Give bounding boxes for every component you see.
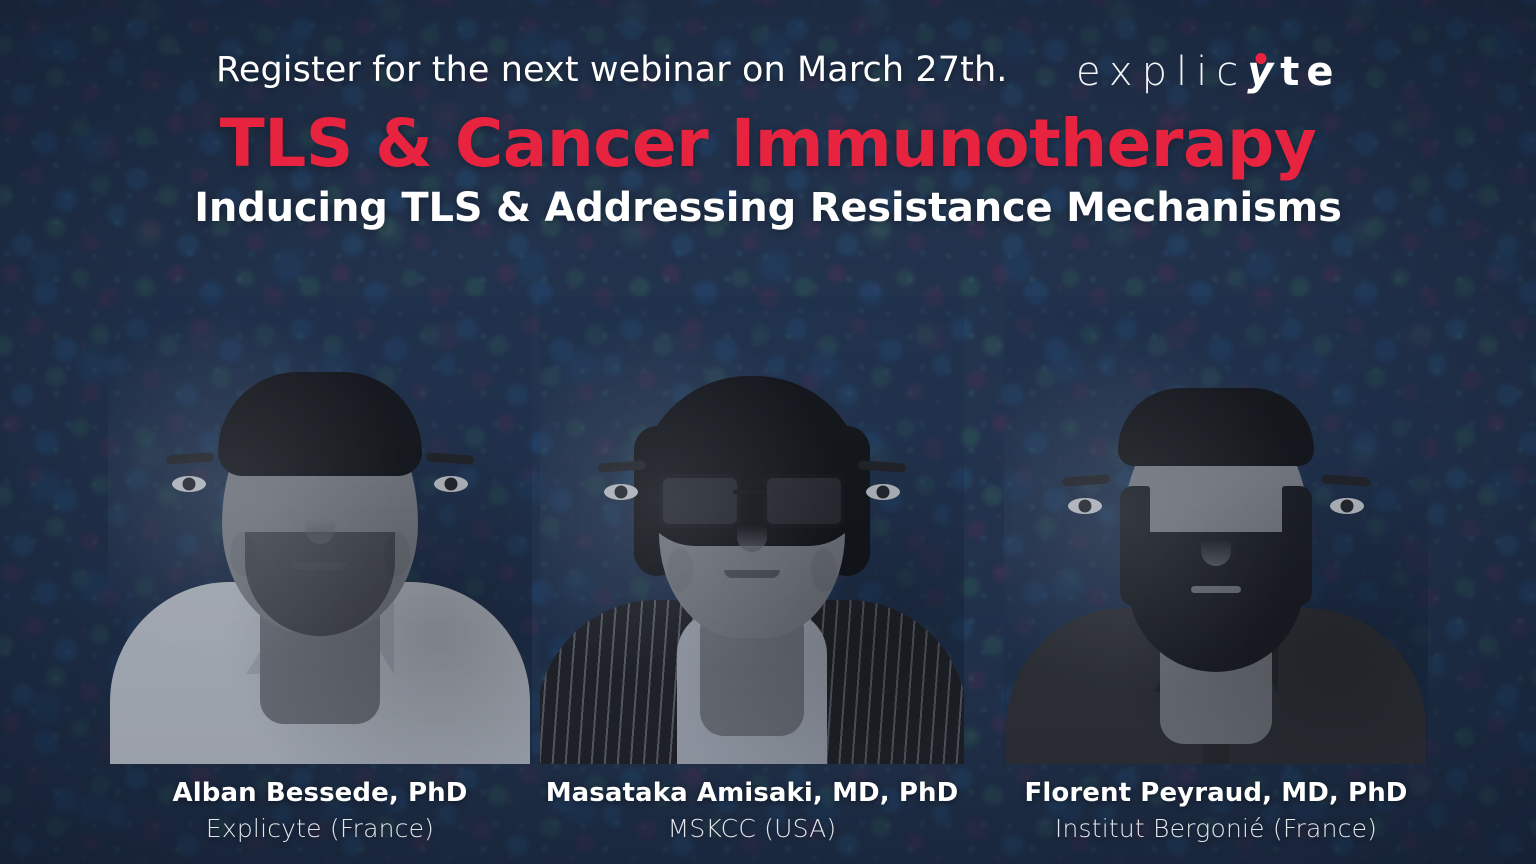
logo-text-te: te xyxy=(1280,52,1340,92)
webinar-date-kicker: Register for the next webinar on March 2… xyxy=(216,50,1007,90)
page-title: TLS & Cancer Immunotherapy xyxy=(0,110,1536,179)
eye-right xyxy=(1330,498,1364,514)
speaker-caption-2: Masataka Amisaki, MD, PhD MSKCC (USA) xyxy=(540,778,964,843)
speaker-name-3: Florent Peyraud, MD, PhD xyxy=(1004,778,1428,808)
speaker-portrait-1 xyxy=(108,296,532,764)
speaker-captions: Alban Bessede, PhD Explicyte (France) Ma… xyxy=(0,778,1536,864)
nose xyxy=(1201,522,1231,566)
webinar-announcement-banner: Register for the next webinar on March 2… xyxy=(0,0,1536,864)
speaker-name-2: Masataka Amisaki, MD, PhD xyxy=(540,778,964,808)
ear-right xyxy=(811,548,837,592)
pupil-right xyxy=(445,478,458,491)
lens-right xyxy=(763,474,845,528)
nose xyxy=(305,500,335,544)
explicyte-logo[interactable]: explic y te xyxy=(1076,52,1341,92)
speaker-portraits xyxy=(0,296,1536,764)
ear-left xyxy=(667,548,693,592)
speaker-affiliation-3: Institut Bergonié (France) xyxy=(1004,814,1428,843)
hair xyxy=(1118,388,1314,466)
speaker-portrait-3 xyxy=(1004,296,1428,764)
portrait-frame-3 xyxy=(1004,296,1428,764)
pupil-left xyxy=(1079,500,1092,513)
person-figure-3 xyxy=(1004,336,1428,764)
eyebrow-left xyxy=(166,452,215,464)
eye-left xyxy=(604,484,638,500)
pupil-left xyxy=(615,486,628,499)
mouth xyxy=(1191,586,1241,593)
speaker-name-1: Alban Bessede, PhD xyxy=(108,778,532,808)
eyebrow-left xyxy=(1062,474,1111,486)
nose xyxy=(737,508,767,552)
speaker-caption-3: Florent Peyraud, MD, PhD Institut Bergon… xyxy=(1004,778,1428,843)
speaker-portrait-2 xyxy=(540,296,964,764)
hair xyxy=(218,372,422,476)
portrait-frame-2 xyxy=(540,296,964,764)
speaker-caption-1: Alban Bessede, PhD Explicyte (France) xyxy=(108,778,532,843)
person-figure-2 xyxy=(540,322,964,764)
eyebrow-right xyxy=(426,452,475,464)
eye-right xyxy=(434,476,468,492)
portrait-frame-1 xyxy=(108,296,532,764)
eyebrow-right xyxy=(1322,474,1371,486)
header: Register for the next webinar on March 2… xyxy=(0,48,1536,229)
speaker-affiliation-2: MSKCC (USA) xyxy=(540,814,964,843)
pupil-right xyxy=(1341,500,1354,513)
kicker-row: Register for the next webinar on March 2… xyxy=(0,48,1536,104)
logo-red-dot-icon xyxy=(1255,53,1266,64)
lens-left xyxy=(659,474,741,528)
eye-left xyxy=(1068,498,1102,514)
pupil-left xyxy=(183,478,196,491)
logo-y-group: y xyxy=(1247,52,1273,92)
speaker-affiliation-1: Explicyte (France) xyxy=(108,814,532,843)
person-figure-1 xyxy=(108,314,532,764)
eye-left xyxy=(172,476,206,492)
page-subtitle: Inducing TLS & Addressing Resistance Mec… xyxy=(0,187,1536,229)
logo-text-thin: explic xyxy=(1076,52,1247,92)
mouth xyxy=(724,570,780,578)
mouth xyxy=(292,562,348,570)
pupil-right xyxy=(877,486,890,499)
eye-right xyxy=(866,484,900,500)
